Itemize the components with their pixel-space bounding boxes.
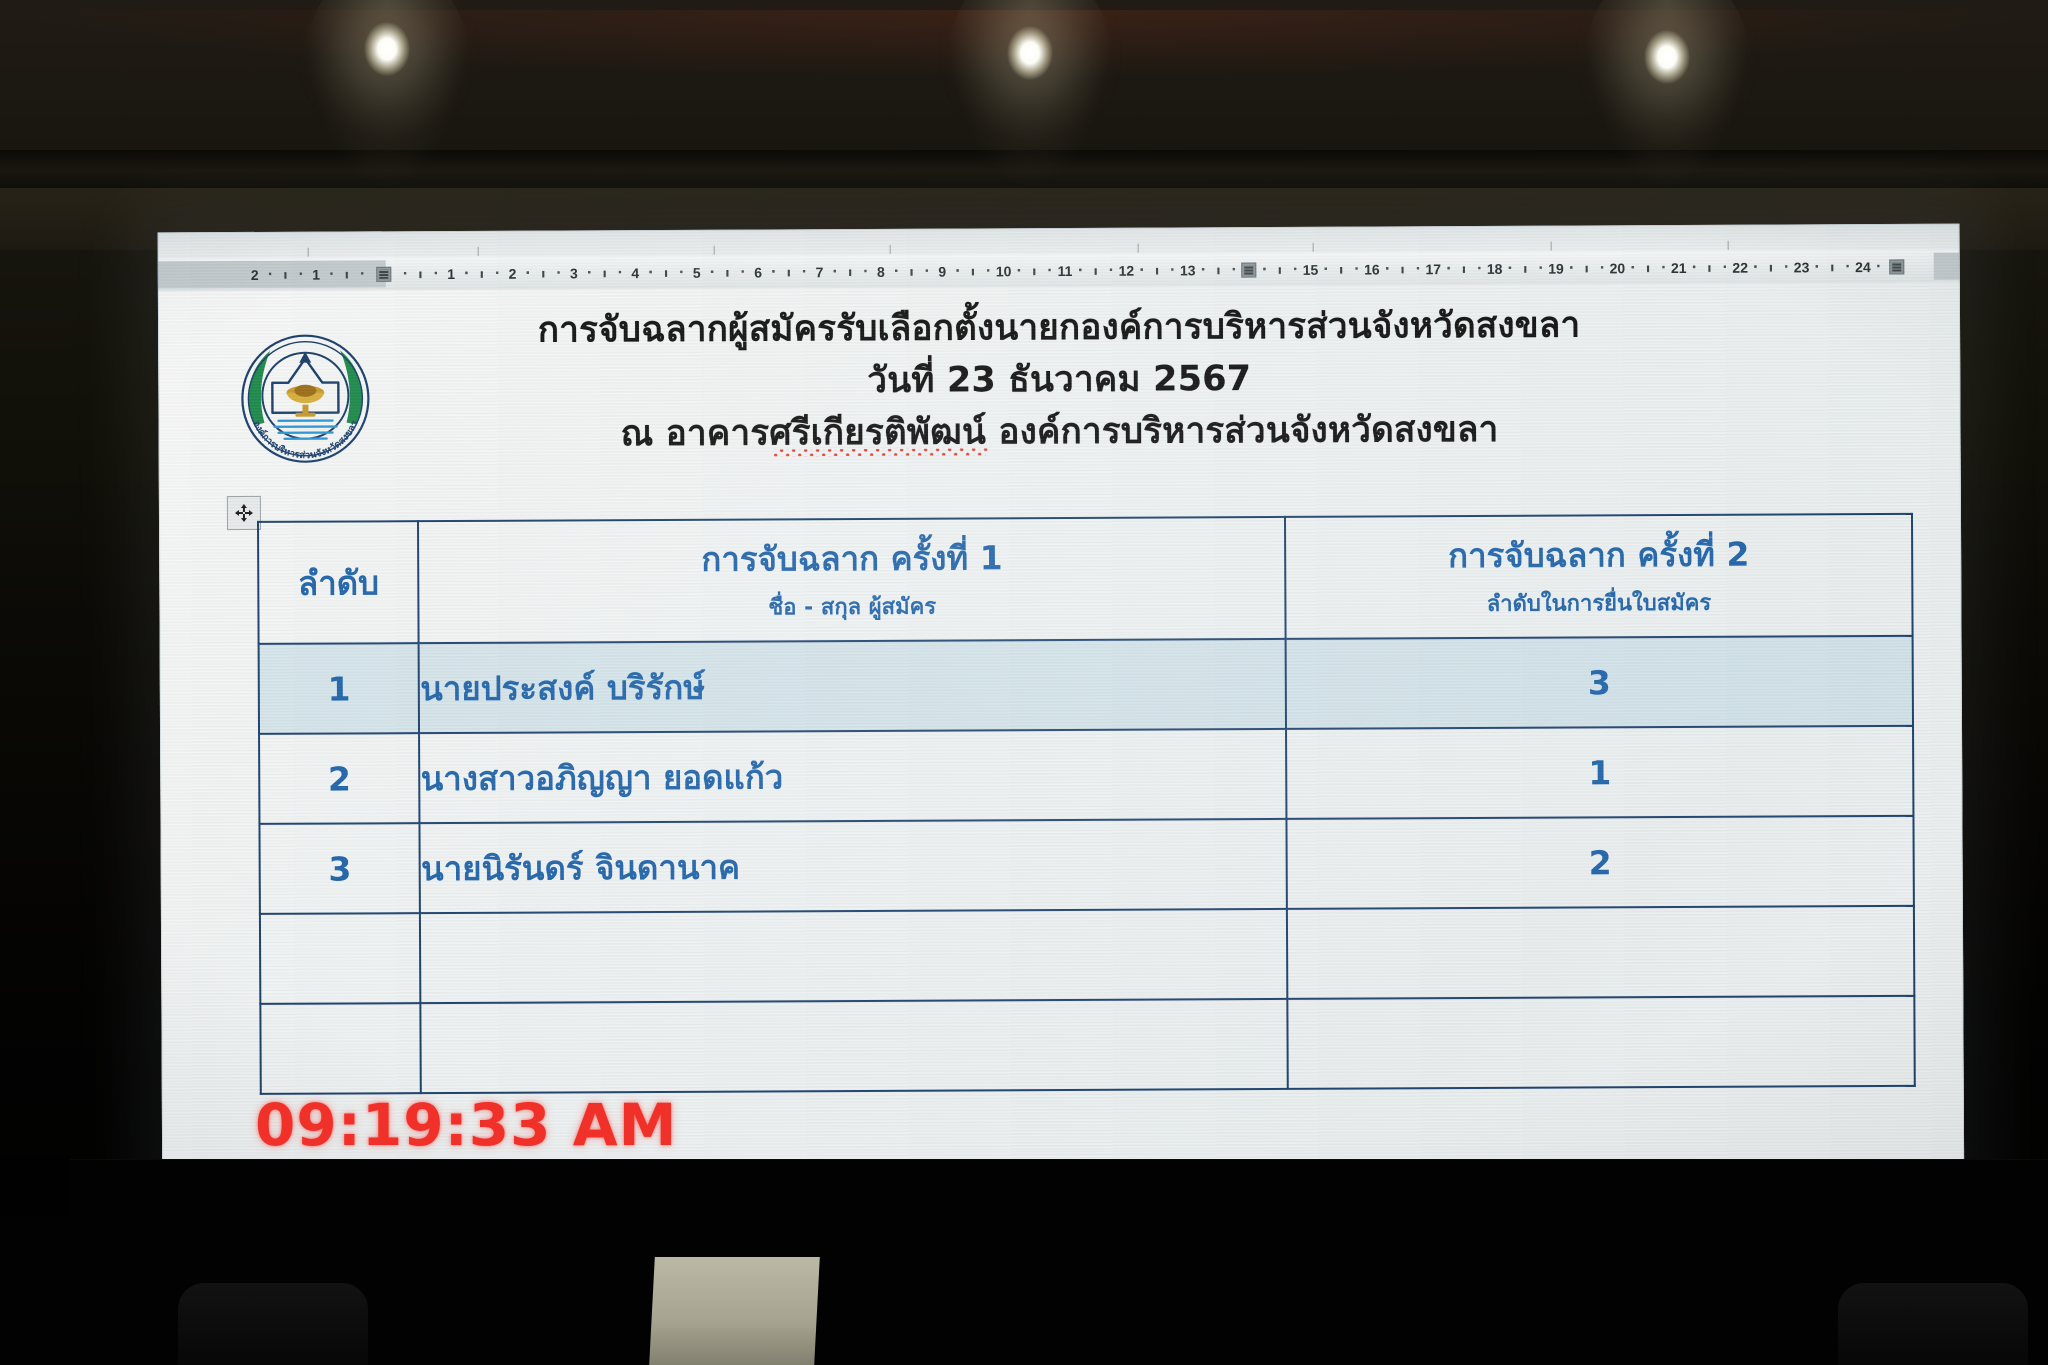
ruler-minor-tick: · (1201, 262, 1206, 277)
ruler-half-tick: ı (345, 267, 349, 281)
ruler-tick-1: 1 (447, 265, 455, 281)
ruler-minor-tick: · (360, 266, 365, 281)
cell-application-order: 2 (1287, 816, 1914, 909)
ceiling-light-3 (1644, 30, 1690, 84)
ruler-half-tick: ı (848, 265, 852, 279)
ruler-tick-9: 9 (938, 263, 946, 279)
table-row: 2นางสาวอภิญญา ยอดแก้ว1 (259, 726, 1913, 824)
ruler-minor-tick: · (1477, 261, 1482, 276)
ruler-minor-tick: · (1845, 259, 1850, 274)
table-row (260, 996, 1914, 1094)
ruler-minor-tick: · (298, 267, 303, 282)
ruler-minor-tick: · (1139, 263, 1144, 278)
title-line-3: ณ อาคารศรีเกียรติพัฒน์ องค์การบริหารส่วน… (621, 407, 1499, 457)
ruler-half-tick: ı (1032, 264, 1036, 278)
table-row: 3นายนิรันดร์ จินดานาค2 (259, 816, 1913, 914)
cell-candidate-name: นายนิรันดร์ จินดานาค (420, 819, 1287, 913)
ruler-minor-tick: · (433, 266, 438, 281)
ceiling-light-1 (364, 22, 410, 76)
stage-foreground (0, 1159, 2048, 1365)
ruler-half-tick: ı (971, 264, 975, 278)
document-page: องค์การบริหารส่วนจังหวัดสงขลา การจับฉลาก… (158, 283, 1965, 1228)
timestamp-overlay: 09:19:33 AM (255, 1091, 677, 1159)
ruler-tick-left-2: 2 (251, 266, 259, 282)
ruler-tick-19: 19 (1548, 260, 1564, 276)
ruler-minor-tick: · (832, 264, 837, 279)
header-cell-round2: การจับฉลาก ครั้งที่ 2 ลำดับในการยื่นใบสม… (1285, 514, 1912, 639)
cell-candidate-name (420, 909, 1287, 1003)
ruler-half-tick: ı (283, 267, 287, 281)
table-body: 1นายประสงค์ บริรักษ์32นางสาวอภิญญา ยอดแก… (259, 636, 1915, 1094)
ruler-tick-5: 5 (693, 264, 701, 280)
ruler-minor-tick: · (464, 266, 469, 281)
header-round2-main: การจับฉลาก ครั้งที่ 2 (1286, 533, 1911, 577)
ruler-minor-tick: · (1630, 260, 1635, 275)
ruler-left-indent-marker[interactable] (376, 266, 391, 281)
spellcheck-underline (772, 448, 987, 456)
ruler-tick-8: 8 (877, 263, 885, 279)
ruler-tick-22: 22 (1732, 259, 1748, 275)
ruler-minor-tick: · (1108, 263, 1113, 278)
ruler-tick-20: 20 (1610, 260, 1626, 276)
ruler-minor-tick: · (1538, 261, 1543, 276)
ruler-minor-tick: · (1814, 259, 1819, 274)
ruler-half-tick: ı (603, 266, 607, 280)
ruler-half-tick: ı (1769, 260, 1773, 274)
ruler-half-tick: ı (909, 264, 913, 278)
ruler-tick-6: 6 (754, 264, 762, 280)
ruler-tick-24: 24 (1855, 259, 1871, 275)
ruler-tick-13: 13 (1180, 262, 1196, 278)
ruler-half-tick: ı (787, 265, 791, 279)
ruler-minor-tick: · (1569, 260, 1574, 275)
header-ghost-text (588, 234, 592, 246)
ruler-half-tick: ı (1094, 263, 1098, 277)
table-move-handle-icon[interactable] (227, 496, 261, 530)
ruler-minor-tick: · (1446, 261, 1451, 276)
ruler-tick-15: 15 (1303, 261, 1319, 277)
ruler-half-tick: ı (1278, 262, 1282, 276)
cell-sequence-number (260, 1003, 421, 1094)
ruler-tick-23: 23 (1794, 259, 1810, 275)
ruler-half-tick: ı (480, 266, 484, 280)
header-round2-sub: ลำดับในการยื่นใบสมัคร (1286, 590, 1911, 619)
header-ghost-text (1388, 230, 1392, 242)
ruler-half-tick: ı (1523, 261, 1527, 275)
cell-sequence-number: 3 (259, 823, 420, 914)
ruler-tick-2: 2 (509, 265, 517, 281)
ruler-minor-tick: · (1784, 259, 1789, 274)
ruler-minor-tick: · (617, 265, 622, 280)
ruler-minor-tick: · (1047, 263, 1052, 278)
table-row: 1นายประสงค์ บริรักษ์3 (259, 636, 1913, 734)
ruler-minor-tick: · (403, 266, 408, 281)
cell-sequence-number: 2 (259, 733, 420, 824)
ruler-half-tick: ı (418, 267, 422, 281)
ruler-minor-tick: · (1170, 262, 1175, 277)
ruler-minor-tick: · (1876, 259, 1881, 274)
ruler-half-tick: ı (541, 266, 545, 280)
table-row (260, 906, 1914, 1004)
ruler-minor-tick: · (329, 267, 334, 282)
ruler-minor-tick: · (1016, 263, 1021, 278)
header-no-label: ลำดับ (259, 556, 418, 610)
ruler-minor-tick: · (955, 263, 960, 278)
foreground-left-block (0, 1155, 70, 1215)
ruler-minor-tick: · (1385, 261, 1390, 276)
ruler-minor-tick: · (1600, 260, 1605, 275)
ruler-minor-tick: · (710, 265, 715, 280)
ruler-minor-tick: · (1753, 260, 1758, 275)
ruler-tab-stop-14[interactable] (1242, 262, 1257, 277)
chair-back-left (178, 1283, 368, 1365)
ruler-tick-11: 11 (1058, 262, 1073, 278)
ruler-minor-tick: · (1507, 261, 1512, 276)
cell-sequence-number: 1 (259, 643, 420, 734)
ruler-tick-18: 18 (1487, 260, 1503, 276)
ruler-minor-tick: · (587, 265, 592, 280)
ruler-minor-tick: · (1078, 263, 1083, 278)
ruler-minor-tick: · (924, 264, 929, 279)
ruler-minor-tick: · (740, 265, 745, 280)
ruler-minor-tick: · (894, 264, 899, 279)
ruler-minor-tick: · (1293, 262, 1298, 277)
ruler-minor-tick: · (556, 265, 561, 280)
ruler-minor-tick: · (1262, 262, 1267, 277)
ruler-tick-16: 16 (1364, 261, 1380, 277)
ruler-minor-tick: · (525, 266, 530, 281)
cell-candidate-name: นางสาวอภิญญา ยอดแก้ว (419, 729, 1286, 823)
ceiling-light-2 (1007, 26, 1053, 80)
lot-drawing-table: ลำดับ การจับฉลาก ครั้งที่ 1 ชื่อ - สกุล … (257, 513, 1916, 1095)
cell-application-order (1287, 996, 1914, 1089)
ruler-half-tick: ı (1646, 261, 1650, 275)
ruler-tick-4: 4 (631, 265, 639, 281)
ruler-right-indent-marker[interactable] (1889, 259, 1904, 274)
tab-stop-marker[interactable] (1728, 241, 1729, 250)
header-round1-sub: ชื่อ - สกุล ผู้สมัคร (420, 593, 1285, 624)
ruler-minor-tick: · (679, 265, 684, 280)
ruler-half-tick: ı (1216, 263, 1220, 277)
ruler-minor-tick: · (802, 264, 807, 279)
ruler-tick-12: 12 (1119, 262, 1135, 278)
document-title-block: การจับฉลากผู้สมัครรับเลือกตั้งนายกองค์กา… (158, 301, 1961, 460)
ruler-tick-21: 21 (1671, 259, 1687, 275)
ruler-tick-left-1: 1 (312, 266, 320, 282)
tab-stop-marker[interactable] (1551, 242, 1552, 251)
ruler-minor-tick: · (1692, 260, 1697, 275)
header-cell-no: ลำดับ (258, 521, 419, 644)
ruler-half-tick: ı (725, 265, 729, 279)
ruler-half-tick: ı (1155, 263, 1159, 277)
cell-application-order (1287, 906, 1914, 999)
ruler-minor-tick: · (648, 265, 653, 280)
ruler-half-tick: ı (1462, 262, 1466, 276)
tab-stop-marker[interactable] (1138, 244, 1139, 253)
paper-sheet (649, 1257, 820, 1365)
chair-back-right (1838, 1283, 2028, 1365)
ruler-half-tick: ı (1830, 260, 1834, 274)
cell-sequence-number (260, 913, 421, 1004)
ruler-minor-tick: · (1323, 262, 1328, 277)
tab-stop-marker[interactable] (478, 247, 479, 256)
header-cell-round1: การจับฉลาก ครั้งที่ 1 ชื่อ - สกุล ผู้สมั… (418, 517, 1285, 643)
ruler-tick-17: 17 (1425, 261, 1441, 277)
ruler-half-tick: ı (1400, 262, 1404, 276)
title-line-1: การจับฉลากผู้สมัครรับเลือกตั้งนายกองค์กา… (158, 301, 1960, 356)
tab-stop-marker[interactable] (714, 246, 715, 255)
ruler-half-tick: ı (1707, 260, 1711, 274)
ruler-minor-tick: · (771, 264, 776, 279)
table-header-row: ลำดับ การจับฉลาก ครั้งที่ 1 ชื่อ - สกุล … (258, 514, 1913, 644)
ruler-minor-tick: · (268, 267, 273, 282)
cell-application-order: 3 (1286, 636, 1913, 729)
ruler-half-tick: ı (1585, 261, 1589, 275)
ruler-minor-tick: · (1354, 262, 1359, 277)
ruler-minor-tick: · (986, 263, 991, 278)
ruler-half-tick: ı (1339, 262, 1343, 276)
ruler-minor-tick: · (1661, 260, 1666, 275)
cell-candidate-name: นายประสงค์ บริรักษ์ (419, 639, 1286, 733)
cell-candidate-name (421, 999, 1288, 1093)
ruler-minor-tick: · (863, 264, 868, 279)
ruler-minor-tick: · (495, 266, 500, 281)
ruler-minor-tick: · (1415, 261, 1420, 276)
header-ghost-text (188, 236, 192, 248)
ruler-half-tick: ı (664, 265, 668, 279)
tab-stop-marker[interactable] (1313, 243, 1314, 252)
tab-stop-marker[interactable] (308, 248, 309, 257)
ruler-tick-7: 7 (816, 264, 824, 280)
header-round1-main: การจับฉลาก ครั้งที่ 1 (420, 536, 1285, 581)
ruler-tick-3: 3 (570, 265, 578, 281)
cell-application-order: 1 (1286, 726, 1913, 819)
tab-stop-marker[interactable] (890, 245, 891, 254)
ruler-minor-tick: · (1231, 262, 1236, 277)
lot-drawing-table-wrapper: ลำดับ การจับฉลาก ครั้งที่ 1 ชื่อ - สกุล … (257, 513, 1916, 1095)
projection-screen: 2·ı·1·ı·1·ı··2·ı··3·ı··4·ı··5·ı··6·ı··7·… (158, 224, 1965, 1228)
ruler-tick-10: 10 (996, 263, 1012, 279)
ruler-minor-tick: · (1722, 260, 1727, 275)
